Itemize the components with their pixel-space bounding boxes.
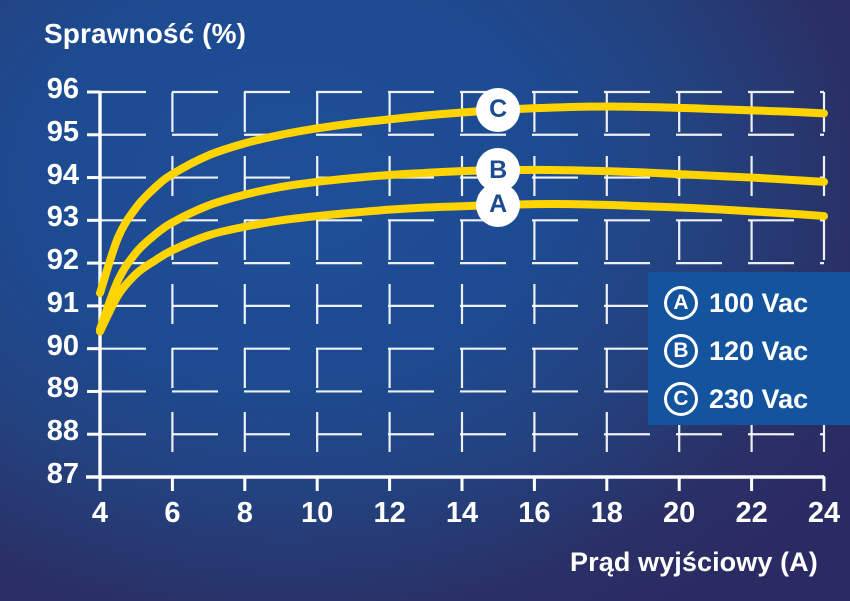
x-axis-tick-label: 18 [582, 497, 632, 530]
x-axis-tick-label: 16 [509, 497, 559, 530]
y-axis-tick-label: 93 [31, 201, 79, 234]
legend-item-a: A100 Vac [664, 286, 808, 320]
legend-item-b: B120 Vac [664, 334, 808, 368]
y-axis-tick-label: 88 [31, 415, 79, 448]
y-axis-title: Sprawność (%) [44, 18, 246, 50]
x-axis-tick-label: 12 [365, 497, 415, 530]
y-axis-tick-label: 92 [31, 244, 79, 277]
legend-badge-a: A [664, 286, 698, 320]
x-axis-tick-label: 20 [654, 497, 704, 530]
legend-panel: A100 VacB120 VacC230 Vac [648, 272, 850, 425]
x-axis-tick-label: 10 [292, 497, 342, 530]
x-axis-tick-label: 24 [799, 497, 849, 530]
legend-label: 230 Vac [709, 384, 808, 415]
x-axis-tick-label: 14 [437, 497, 487, 530]
curve-marker-c: C [476, 88, 520, 132]
legend-badge-b: B [664, 334, 698, 368]
y-axis-tick-label: 95 [31, 116, 79, 149]
legend-item-c: C230 Vac [664, 382, 808, 416]
x-axis-tick-label: 8 [220, 497, 270, 530]
y-axis-tick-label: 94 [31, 159, 79, 192]
y-axis-tick-label: 89 [31, 372, 79, 405]
y-axis-tick-label: 90 [31, 330, 79, 363]
efficiency-chart: Sprawność (%) Prąd wyjściowy (A) 9695949… [0, 0, 850, 601]
y-axis-tick-label: 96 [31, 73, 79, 106]
x-axis-tick-label: 22 [727, 497, 777, 530]
x-axis-title: Prąd wyjściowy (A) [570, 547, 818, 578]
legend-label: 100 Vac [709, 288, 808, 319]
x-axis-tick-label: 6 [147, 497, 197, 530]
legend-badge-c: C [664, 382, 698, 416]
legend-label: 120 Vac [709, 336, 808, 367]
y-axis-tick-label: 91 [31, 287, 79, 320]
y-axis-tick-label: 87 [31, 458, 79, 491]
x-axis-tick-label: 4 [75, 497, 125, 530]
